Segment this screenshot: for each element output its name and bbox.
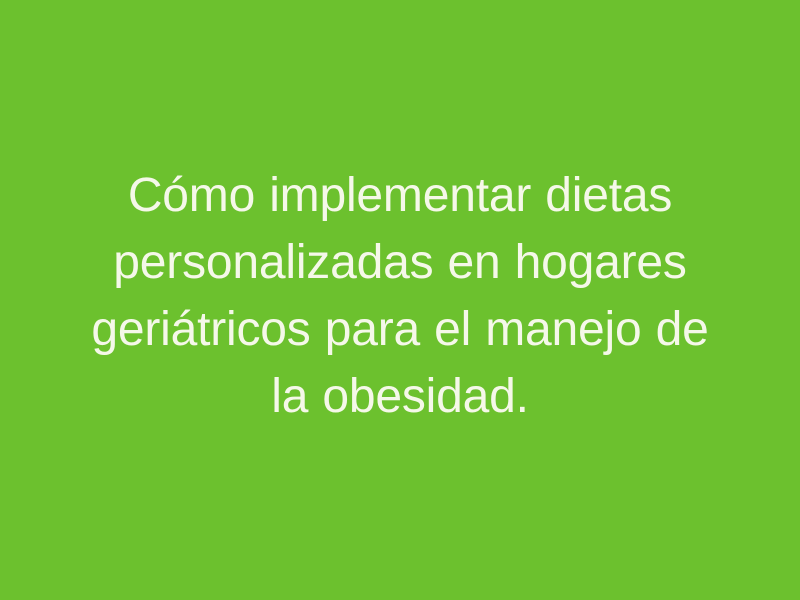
title-card: Cómo implementar dietas personalizadas e… [0, 0, 800, 600]
page-title: Cómo implementar dietas personalizadas e… [90, 162, 710, 430]
title-block: Cómo implementar dietas personalizadas e… [80, 162, 720, 430]
